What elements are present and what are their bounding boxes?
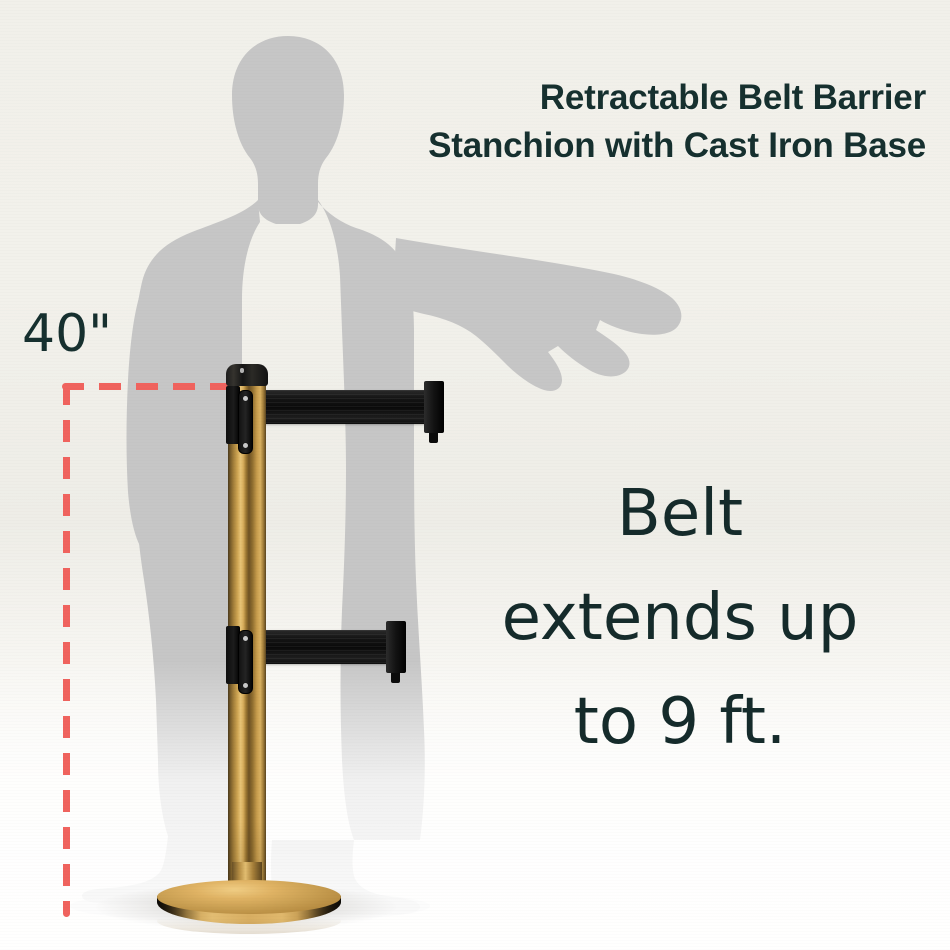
belt-upper-clip-tab [429,433,438,443]
cassette-upper-screw-top [243,396,248,401]
post-top-cap [226,364,268,386]
cassette-lower-screw-bottom [243,683,248,688]
post-cap-highlight [240,368,244,373]
cassette-lower-screw-top [243,636,248,641]
belt-lower-clip-tab [391,673,400,683]
product-image-canvas: Retractable Belt Barrier Stanchion with … [0,0,950,950]
belt-lower [262,630,394,664]
base-bottom-edge [157,908,341,934]
belt-upper-end-clip [424,381,444,433]
caption-line-1: Belt [445,462,915,566]
belt-length-caption: Belt extends up to 9 ft. [445,462,915,774]
cassette-upper-screw-bottom [243,443,248,448]
caption-line-2: extends up [445,566,915,670]
belt-upper [262,390,432,424]
caption-line-3: to 9 ft. [445,670,915,774]
belt-lower-end-clip [386,621,406,673]
